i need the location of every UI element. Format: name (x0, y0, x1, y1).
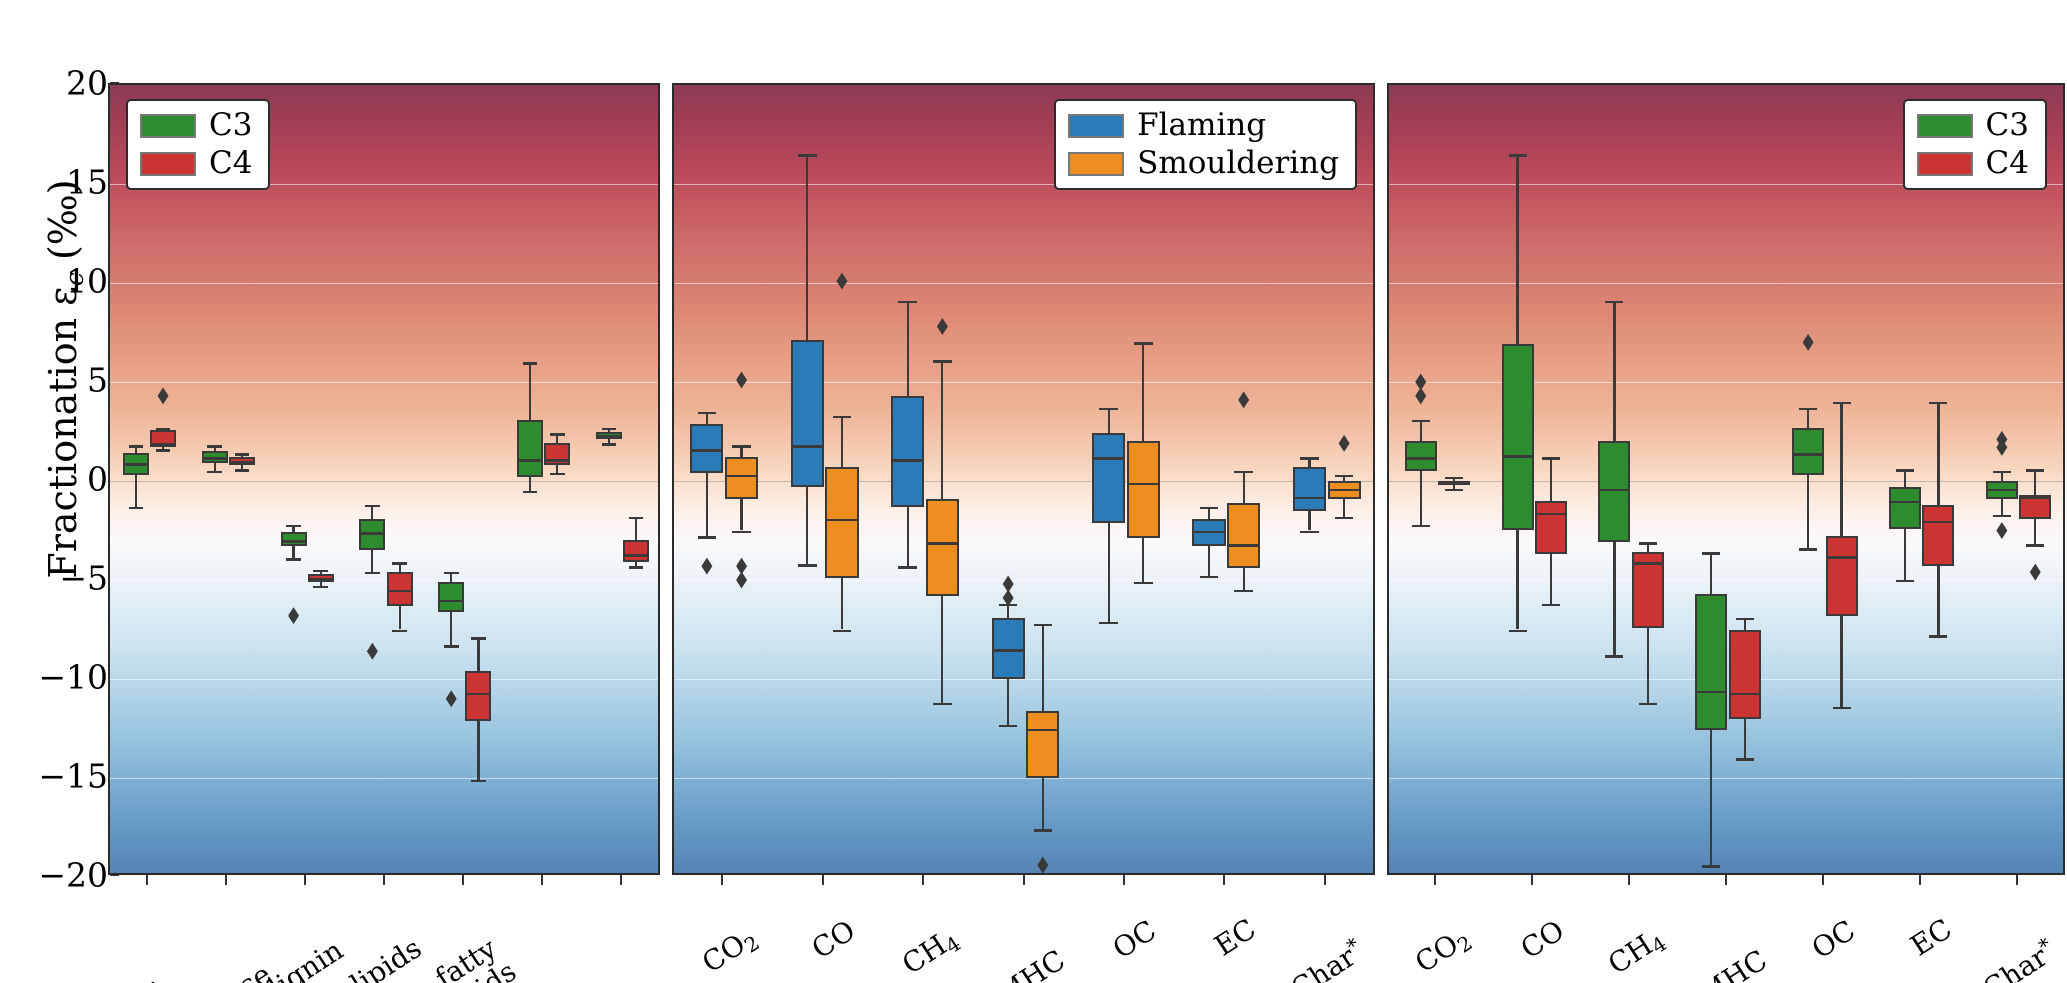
boxplot-whisker-cap (129, 507, 144, 509)
boxplot-whisker-cap (207, 445, 222, 447)
boxplot-whisker-cap (129, 445, 144, 447)
boxplot-median (623, 554, 649, 556)
header-row-p: 0.010.000.000.010.610.850.95 (674, 83, 1373, 85)
boxplot-whisker-cap (1300, 531, 1319, 533)
boxplot-whisker-cap (2026, 469, 2044, 471)
boxplot-box (891, 396, 924, 507)
boxplot-box (1092, 433, 1125, 522)
boxplot-whisker-cap (1542, 604, 1560, 606)
legend-item[interactable]: Flaming (1068, 110, 1339, 141)
x-tick-mark (1725, 875, 1727, 885)
boxplot-median (1502, 455, 1534, 457)
boxplot-whisker-cap (898, 566, 917, 568)
boxplot-median (1328, 489, 1361, 491)
y-tick-label: −5 (36, 562, 108, 595)
x-tick-mark (541, 875, 543, 885)
boxplot-whisker-cap (1542, 457, 1560, 459)
boxplot-box (438, 582, 464, 612)
boxplot-whisker-cap (1799, 408, 1817, 410)
boxplot-whisker-cap (1605, 655, 1623, 657)
boxplot-median (791, 445, 824, 447)
x-tick-label-text: CO (1516, 915, 1569, 964)
boxplot-median (992, 649, 1025, 651)
boxplot-box (1729, 630, 1761, 719)
gridline (674, 778, 1373, 779)
y-tick-label: −20 (36, 859, 108, 892)
boxplot-box (1535, 501, 1567, 554)
x-tick-label-text: EC (1905, 914, 1956, 962)
legend: FlamingSmouldering (1054, 99, 1357, 190)
boxplot-whisker-cap (392, 630, 407, 632)
boxplot-whisker-cap (1099, 408, 1118, 410)
gridline (110, 283, 658, 284)
x-tick-mark (462, 875, 464, 885)
x-tick-mark (225, 875, 227, 885)
header-row-p: 0.470.000.010.460.000.010.00 (1389, 83, 2063, 85)
boxplot-whisker-cap (550, 433, 565, 435)
boxplot-whisker-cap (1445, 489, 1463, 491)
boxplot-whisker-cap (1702, 865, 1720, 867)
legend-item[interactable]: C4 (1917, 148, 2029, 179)
x-tick-mark (1822, 875, 1824, 885)
boxplot-whisker-cap (602, 428, 617, 430)
x-tick-label: CO2 (1459, 891, 1525, 950)
boxplot-whisker-cap (698, 412, 717, 414)
boxplot-whisker-cap (1799, 548, 1817, 550)
boxplot-median (1695, 691, 1727, 693)
boxplot-whisker-cap (1896, 469, 1914, 471)
y-tick-label: 5 (36, 364, 108, 397)
boxplot-whisker-cap (602, 443, 617, 445)
boxplot-median (517, 459, 543, 461)
boxplot-median (1598, 489, 1630, 491)
boxplot-whisker-cap (392, 562, 407, 564)
boxplot-whisker-cap (1736, 758, 1754, 760)
boxplot-median (1192, 531, 1225, 533)
boxplot-median (926, 542, 959, 544)
legend-label: C3 (1986, 110, 2029, 141)
x-tick-label: CH4 (1653, 891, 1720, 951)
boxplot-whisker-cap (1300, 457, 1319, 459)
boxplot-whisker-cap (1605, 301, 1623, 303)
y-tick-label: 20 (36, 67, 108, 100)
boxplot-median (1535, 513, 1567, 515)
boxplot-median (1293, 497, 1326, 499)
x-tick-label: fattyacids (489, 891, 583, 981)
boxplot-box (926, 499, 959, 596)
y-tick-label: 15 (36, 166, 108, 199)
x-tick-mark (1919, 875, 1921, 885)
boxplot-median (1729, 693, 1761, 695)
x-tick-mark (922, 875, 924, 885)
legend: C3C4 (126, 99, 270, 190)
panel-background-gradient (110, 85, 658, 873)
legend-label: C4 (1986, 148, 2029, 179)
legend-label: Flaming (1137, 110, 1266, 141)
y-tick-label: 10 (36, 265, 108, 298)
boxplot-box (1026, 711, 1059, 778)
figure-root: Fractionation εc (‰) 20151050−5−10−15−20… (0, 0, 2067, 983)
boxplot-median (202, 457, 228, 459)
boxplot-whisker-cap (1993, 515, 2011, 517)
boxplot-median (438, 600, 464, 602)
x-tick-label: CH4 (947, 891, 1014, 951)
boxplot-median (1127, 483, 1160, 485)
boxplot-box (281, 532, 307, 546)
boxplot-whisker-cap (1234, 471, 1253, 473)
boxplot-whisker-cap (1736, 618, 1754, 620)
legend-item[interactable]: Smouldering (1068, 148, 1339, 179)
boxplot-box (1127, 441, 1160, 538)
boxplot-median (690, 449, 723, 451)
boxplot-whisker-cap (286, 558, 301, 560)
boxplot-whisker-cap (365, 572, 380, 574)
boxplot-whisker-cap (1896, 580, 1914, 582)
panel-background-gradient (1389, 85, 2063, 873)
boxplot-box (725, 457, 758, 499)
legend-item[interactable]: C3 (140, 110, 252, 141)
boxplot-whisker-cap (933, 703, 952, 705)
boxplot-whisker-cap (1099, 622, 1118, 624)
gridline (1389, 382, 2063, 383)
x-tick-mark (383, 875, 385, 885)
legend-swatch (1917, 114, 1973, 138)
legend-item[interactable]: C4 (140, 148, 252, 179)
boxplot-box (517, 420, 543, 477)
y-axis-ticks: 20151050−5−10−15−20 (0, 0, 108, 983)
x-tick-mark (1223, 875, 1225, 885)
boxplot-box (1889, 487, 1921, 529)
y-tick-label: 0 (36, 463, 108, 496)
gridline (110, 778, 658, 779)
boxplot-box (1502, 344, 1534, 530)
x-tick-label: Char* (2043, 891, 2067, 961)
boxplot-median (2019, 497, 2051, 499)
boxplot-box (1293, 467, 1326, 511)
legend-swatch (1917, 152, 1973, 176)
boxplot-whisker-cap (629, 517, 644, 519)
boxplot-median (544, 459, 570, 461)
boxplot-whisker-cap (523, 362, 538, 364)
boxplot-box (825, 467, 858, 578)
gridline (110, 679, 658, 680)
boxplot-box (1922, 505, 1954, 566)
boxplot-whisker-cap (1993, 471, 2011, 473)
x-tick-label: EC (1940, 891, 1991, 939)
boxplot-whisker-cap (833, 630, 852, 632)
boxplot-whisker-cap (1412, 420, 1430, 422)
boxplot-whisker-cap (523, 491, 538, 493)
x-tick-mark (1324, 875, 1326, 885)
y-tick-label: −15 (36, 760, 108, 793)
x-tick-label: CO (1553, 891, 1606, 940)
boxplot-whisker-cap (1234, 590, 1253, 592)
boxplot-whisker-cap (313, 586, 328, 588)
header-row-p: 0.090.630.020.030.000.710.04p: (110, 83, 658, 85)
boxplot-whisker-cap (471, 637, 486, 639)
boxplot-whisker-cap (1034, 829, 1053, 831)
boxplot-box (1695, 594, 1727, 731)
boxplot-whisker-cap (898, 301, 917, 303)
x-tick-label-text: CH4 (897, 923, 964, 983)
boxplot-whisker-cap (1412, 525, 1430, 527)
boxplot-whisker-cap (550, 473, 565, 475)
x-tick-mark (2016, 875, 2018, 885)
boxplot-whisker-cap (313, 570, 328, 572)
legend-item[interactable]: C3 (1917, 110, 2029, 141)
boxplot-median (1792, 453, 1824, 455)
boxplot-whisker-cap (1134, 342, 1153, 344)
boxplot-whisker-cap (798, 564, 817, 566)
boxplot-whisker (1420, 420, 1422, 525)
boxplot-whisker-cap (1833, 402, 1851, 404)
boxplot-whisker-cap (444, 572, 459, 574)
x-tick-label-text: CO (807, 915, 860, 964)
boxplot-median (1826, 556, 1858, 558)
gridline (1389, 580, 2063, 581)
boxplot-whisker-cap (933, 360, 952, 362)
boxplot-whisker-cap (1702, 552, 1720, 554)
boxplot-median (825, 519, 858, 521)
boxplot-whisker-cap (629, 566, 644, 568)
boxplot-median (1227, 544, 1260, 546)
boxplot-whisker-cap (235, 453, 250, 455)
x-tick-mark (1531, 875, 1533, 885)
boxplot-median (150, 443, 176, 445)
x-tick-label-text: EC (1210, 914, 1261, 962)
boxplot-whisker-cap (732, 531, 751, 533)
x-tick-label: CO2 (745, 891, 811, 950)
gridline (674, 679, 1373, 680)
boxplot-box (1227, 503, 1260, 568)
boxplot-whisker-cap (156, 449, 171, 451)
legend-label: C4 (209, 148, 252, 179)
boxplot-median (1405, 457, 1437, 459)
x-tick-mark (146, 875, 148, 885)
x-tick-label: EC (1245, 891, 1296, 939)
gridline (110, 382, 658, 383)
boxplot-whisker-cap (833, 416, 852, 418)
boxplot-whisker-cap (1335, 517, 1354, 519)
x-tick-mark (721, 875, 723, 885)
boxplot-whisker-cap (1445, 477, 1463, 479)
x-tick-mark (1123, 875, 1125, 885)
gridline (110, 580, 658, 581)
boxplot-whisker-cap (1034, 624, 1053, 626)
boxplot-whisker-cap (365, 505, 380, 507)
x-tick-label: CO (844, 891, 897, 940)
boxplot-whisker-cap (207, 471, 222, 473)
x-tick-label: OC (1844, 891, 1897, 940)
boxplot-median (1922, 521, 1954, 523)
boxplot-median (387, 590, 413, 592)
boxplot-whisker-cap (1134, 582, 1153, 584)
boxplot-whisker-cap (1833, 707, 1851, 709)
gridline (110, 481, 658, 482)
boxplot-median (281, 540, 307, 542)
gridline (674, 481, 1373, 482)
panel-background-gradient (674, 85, 1373, 873)
boxplot-box (1598, 441, 1630, 542)
boxplot-median (1889, 501, 1921, 503)
panel-3: post-fire products by source65(49)62(50)… (1387, 83, 2065, 875)
boxplot-whisker-cap (286, 525, 301, 527)
legend-swatch (1068, 114, 1124, 138)
legend-swatch (140, 152, 196, 176)
x-tick-mark (620, 875, 622, 885)
boxplot-median (1026, 729, 1059, 731)
legend-swatch (140, 114, 196, 138)
x-tick-label-text: NMHC (970, 945, 1069, 983)
boxplot-median (891, 459, 924, 461)
boxplot-median (596, 435, 622, 437)
boxplot-box (1826, 536, 1858, 615)
panel-1: pre-fire fuel composites1113121732125n:0… (108, 83, 660, 875)
boxplot-median (308, 578, 334, 580)
boxplot-box (623, 540, 649, 562)
x-tick-label-text: CO2 (1411, 922, 1477, 981)
boxplot-median (229, 461, 255, 463)
x-tick-mark (822, 875, 824, 885)
boxplot-whisker-cap (1200, 576, 1219, 578)
boxplot-median (359, 532, 385, 534)
boxplot-box (465, 671, 491, 721)
boxplot-whisker-cap (2026, 544, 2044, 546)
x-tick-mark (1023, 875, 1025, 885)
boxplot-whisker-cap (471, 780, 486, 782)
x-tick-label-text: Char* (1977, 934, 2061, 983)
boxplot-whisker-cap (1509, 630, 1527, 632)
boxplot-median (123, 463, 149, 465)
x-tick-label-text: CH4 (1603, 923, 1670, 983)
boxplot-whisker-cap (798, 154, 817, 156)
legend-label: C3 (209, 110, 252, 141)
boxplot-whisker-cap (235, 469, 250, 471)
gridline (674, 382, 1373, 383)
boxplot-whisker-cap (1509, 154, 1527, 156)
x-tick-label-text: Char* (1285, 934, 1369, 983)
boxplot-whisker-cap (1200, 507, 1219, 509)
x-tick-mark (1628, 875, 1630, 885)
boxplot-median (725, 475, 758, 477)
x-tick-label: OC (1145, 891, 1198, 940)
gridline (1389, 283, 2063, 284)
boxplot-whisker-cap (1335, 475, 1354, 477)
boxplot-box (544, 443, 570, 465)
x-tick-mark (304, 875, 306, 885)
boxplot-box (1405, 441, 1437, 471)
x-tick-mark (1434, 875, 1436, 885)
boxplot-whisker-cap (444, 645, 459, 647)
boxplot-whisker-cap (999, 725, 1018, 727)
x-tick-label-text: NMHC (1673, 945, 1772, 983)
boxplot-whisker-cap (1639, 542, 1657, 544)
boxplot-whisker-cap (1929, 635, 1947, 637)
boxplot-whisker-cap (1929, 402, 1947, 404)
boxplot-median (1092, 457, 1125, 459)
boxplot-median (1632, 562, 1664, 564)
boxplot-box (791, 340, 824, 487)
boxplot-median (1438, 483, 1470, 485)
panel-2: post-fire products by phase81(65)75(65)7… (672, 83, 1375, 875)
gridline (1389, 778, 2063, 779)
boxplot-median (1986, 489, 2018, 491)
boxplot-whisker-cap (698, 536, 717, 538)
boxplot-median (465, 693, 491, 695)
y-tick-label: −10 (36, 661, 108, 694)
boxplot-box (992, 618, 1025, 679)
boxplot-whisker-cap (1639, 703, 1657, 705)
gridline (674, 580, 1373, 581)
legend-swatch (1068, 152, 1124, 176)
gridline (674, 283, 1373, 284)
boxplot-box (1792, 428, 1824, 476)
legend-label: Smouldering (1137, 148, 1339, 179)
gridline (1389, 481, 2063, 482)
legend: C3C4 (1903, 99, 2047, 190)
boxplot-whisker-cap (732, 445, 751, 447)
